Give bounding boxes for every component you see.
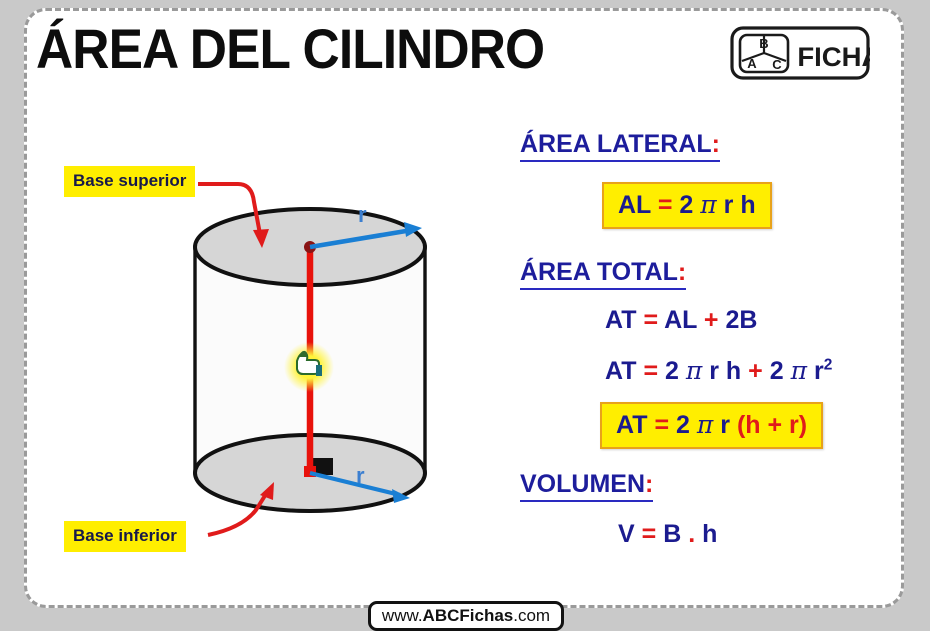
svg-text:A: A — [747, 56, 757, 71]
poster-page: ÁREA DEL CILINDRO B A C FICHAS — [0, 0, 930, 620]
formula-area-lateral: AL = 2 π r h — [602, 182, 772, 229]
v-lhs: V — [618, 520, 635, 548]
al-equals: = — [658, 191, 673, 219]
at-coef: 2 — [676, 411, 690, 439]
v-dot: . — [688, 520, 695, 548]
radius-label-top: r — [358, 202, 367, 227]
at2-pi-2: π — [791, 356, 807, 385]
v-term-h: h — [702, 520, 717, 548]
label-base-inferior: Base inferior — [64, 521, 186, 552]
heading-colon: : — [712, 130, 720, 158]
at2-var-r: r — [814, 357, 824, 385]
heading-colon: : — [678, 258, 686, 286]
at-pi: π — [697, 410, 713, 439]
v-equals: = — [642, 520, 657, 548]
al-vars: r h — [724, 191, 756, 219]
al-coefficient: 2 — [679, 191, 693, 219]
at2-lhs: AT — [605, 357, 636, 385]
heading-colon: : — [645, 470, 653, 498]
at1-plus: + — [704, 306, 719, 334]
at1-equals: = — [643, 306, 658, 334]
label-base-superior: Base superior — [64, 166, 195, 197]
heading-area-total-text: ÁREA TOTAL — [520, 258, 678, 286]
at-var-r: r — [720, 411, 730, 439]
formula-volumen: V = B . h — [618, 520, 717, 549]
formula-at-line1: AT = AL + 2B — [605, 306, 757, 335]
heading-volumen: VOLUMEN: — [520, 470, 653, 502]
at-group: (h + r) — [737, 411, 807, 439]
v-term-b: B — [663, 520, 681, 548]
at1-term-b: 2B — [725, 306, 757, 334]
at1-term-a: AL — [664, 306, 697, 334]
footer-website-badge[interactable]: www.ABCFichas.com — [368, 601, 564, 631]
al-pi: π — [700, 190, 716, 219]
at2-vars-1: r h — [709, 357, 741, 385]
svg-text:C: C — [772, 57, 782, 72]
formula-at-line2: AT = 2 π r h + 2 π r2 — [605, 356, 832, 386]
formula-area-total-boxed: AT = 2 π r (h + r) — [600, 402, 823, 449]
at2-coef-2: 2 — [770, 357, 784, 385]
page-title: ÁREA DEL CILINDRO — [36, 16, 544, 81]
at2-coef-1: 2 — [665, 357, 679, 385]
hand-pointer-icon — [283, 341, 335, 393]
heading-volumen-text: VOLUMEN — [520, 470, 645, 498]
at-lhs: AT — [616, 411, 647, 439]
at2-exponent: 2 — [824, 357, 833, 374]
at1-lhs: AT — [605, 306, 636, 334]
svg-text:B: B — [759, 36, 768, 51]
svg-text:FICHAS: FICHAS — [797, 41, 870, 72]
footer-prefix: www. — [382, 606, 423, 625]
heading-area-total: ÁREA TOTAL: — [520, 258, 686, 290]
footer-website-text: www.ABCFichas.com — [371, 604, 561, 628]
abcfichas-logo: B A C FICHAS — [730, 26, 870, 80]
at-equals: = — [654, 411, 669, 439]
at2-pi-1: π — [686, 356, 702, 385]
footer-suffix: .com — [513, 606, 550, 625]
al-lhs: AL — [618, 191, 651, 219]
footer-brand: ABCFichas — [423, 606, 514, 625]
heading-area-lateral: ÁREA LATERAL: — [520, 130, 720, 162]
heading-area-lateral-text: ÁREA LATERAL — [520, 130, 712, 158]
at2-equals: = — [643, 357, 658, 385]
radius-label-bottom: r — [356, 463, 365, 488]
at2-plus: + — [748, 357, 763, 385]
